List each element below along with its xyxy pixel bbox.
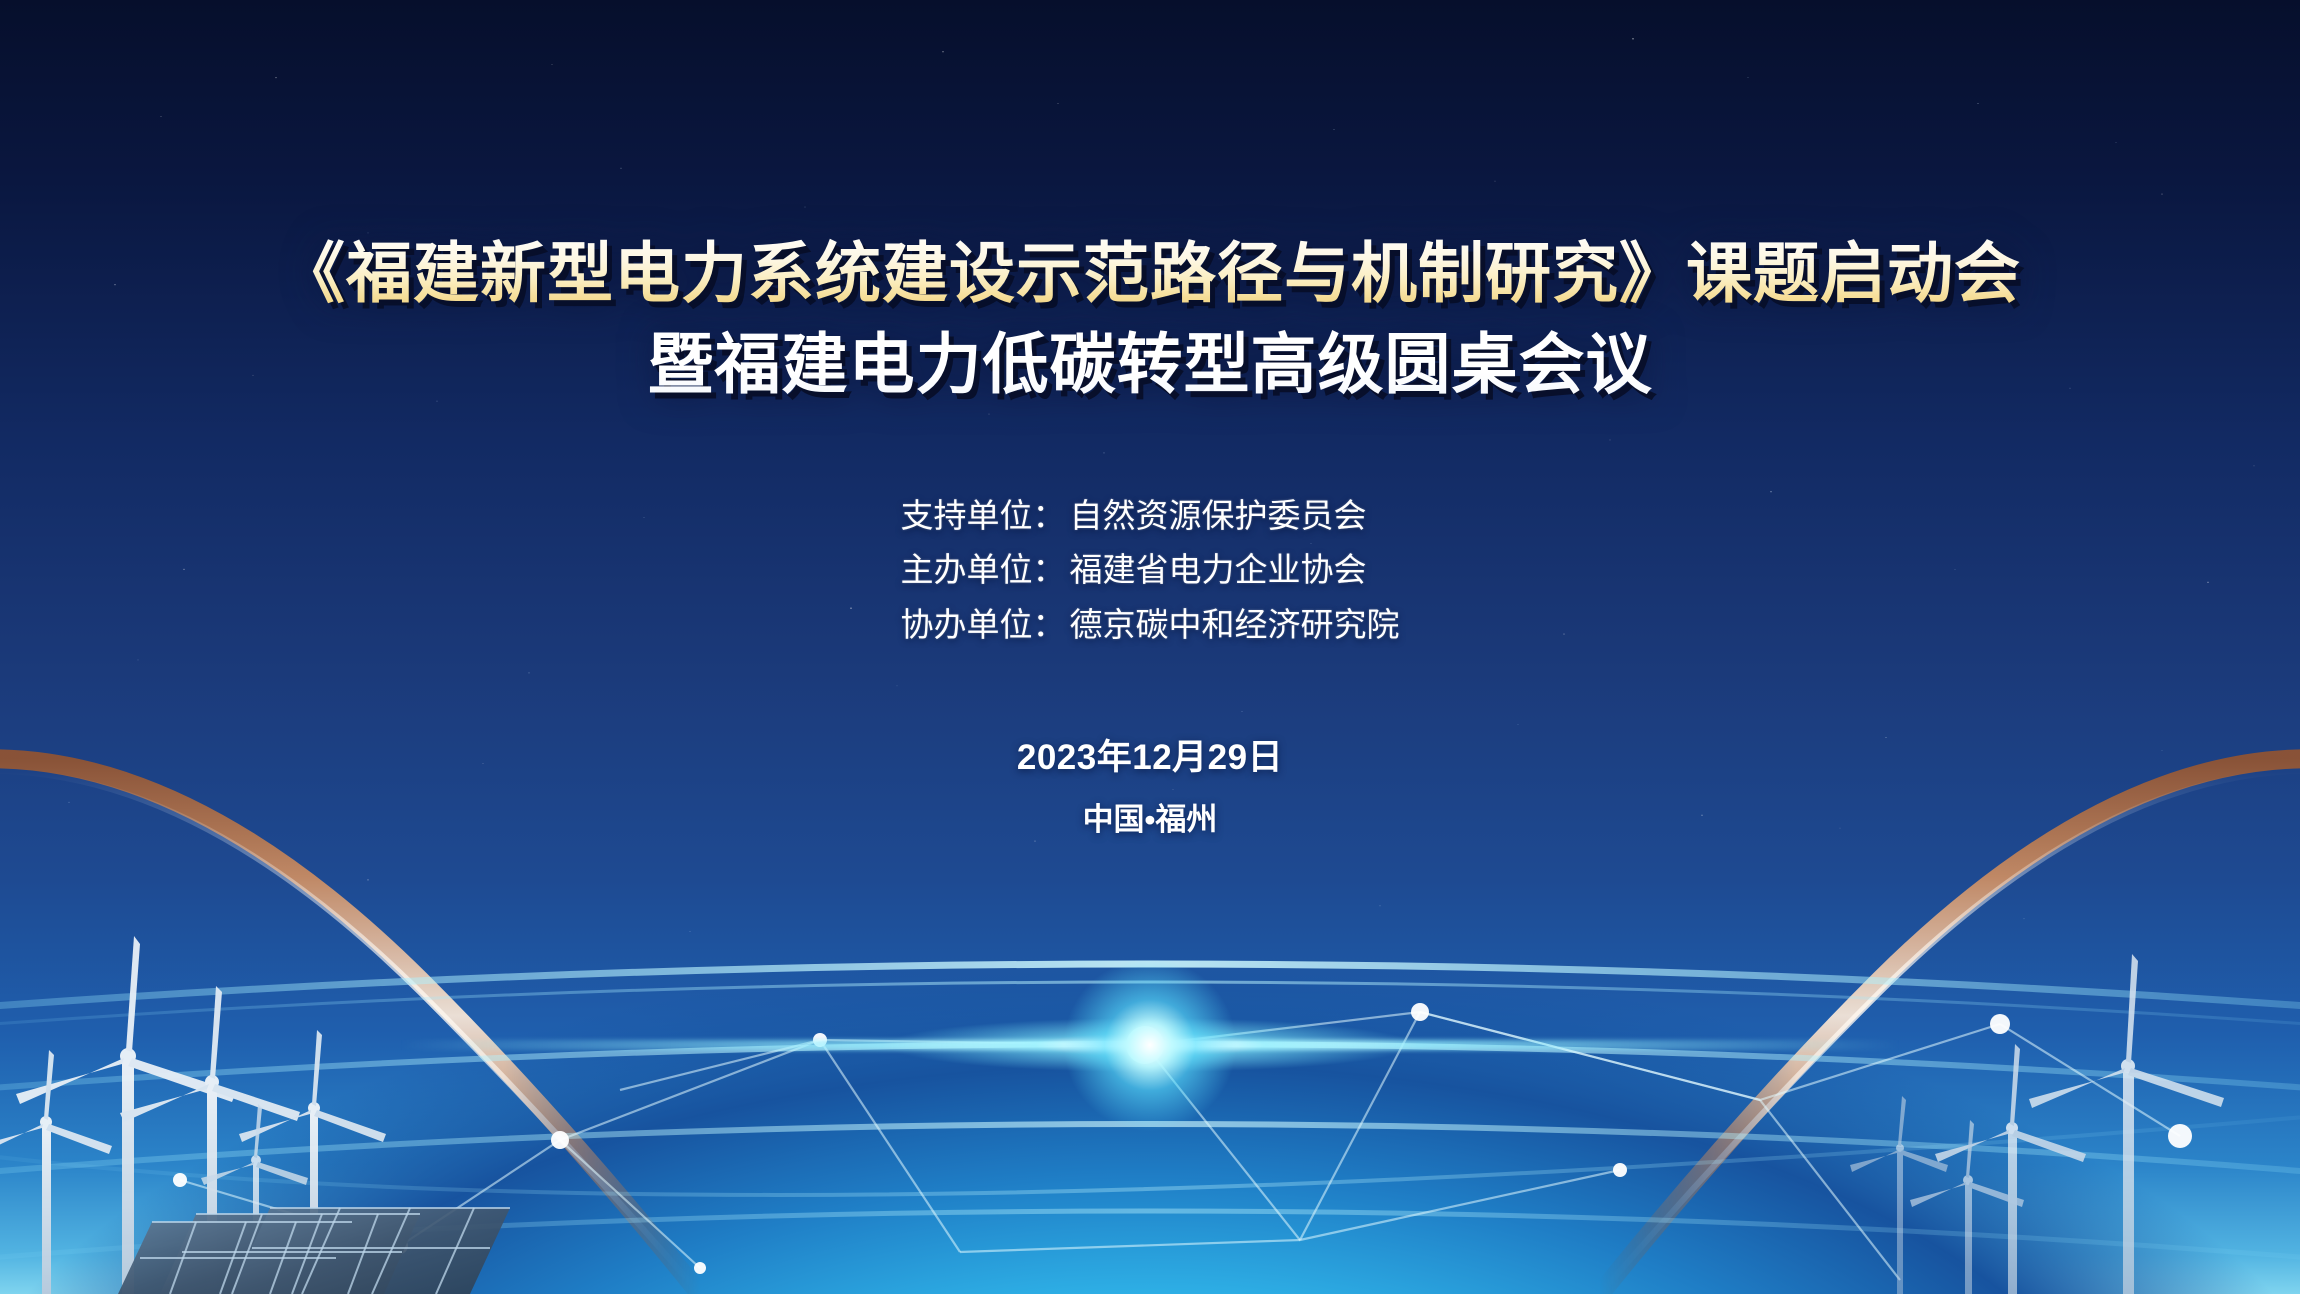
wind-turbines-right: [1850, 954, 2224, 1294]
organizer-label-host: 主办单位：: [901, 550, 1066, 590]
solar-panel-array: [118, 1208, 510, 1294]
horizon-light-ray: [400, 1040, 1900, 1050]
network-nodes: [173, 1003, 2192, 1274]
network-links: [180, 1012, 2180, 1280]
starfield-layer-faint: [0, 0, 2300, 1294]
globe-bands: [0, 964, 2300, 1262]
conference-poster: 《福建新型电力系统建设示范路径与机制研究》课题启动会 暨福建电力低碳转型高级圆桌…: [0, 0, 2300, 1294]
center-glow: [830, 895, 1470, 1195]
organizer-list: 支持单位： 自然资源保护委员会 主办单位： 福建省电力企业协会 协办单位： 德京…: [901, 496, 1400, 645]
organizer-value-coorganizer: 德京碳中和经济研究院: [1070, 605, 1400, 645]
copper-arc-right: [1600, 759, 2300, 1294]
organizer-row-support: 支持单位： 自然资源保护委员会: [901, 496, 1400, 536]
copper-arc-left: [0, 759, 700, 1294]
organizer-value-host: 福建省电力企业协会: [1070, 550, 1367, 590]
organizer-value-support: 自然资源保护委员会: [1070, 496, 1367, 536]
organizer-label-coorganizer: 协办单位：: [901, 605, 1066, 645]
copper-arc-decoration: [0, 0, 2300, 1294]
organizer-label-support: 支持单位：: [901, 496, 1066, 536]
event-location: 中国•福州: [1017, 794, 1283, 839]
event-meta: 2023年12月29日 中国•福州: [1017, 729, 1283, 839]
organizer-row-coorganizer: 协办单位： 德京碳中和经济研究院: [901, 605, 1400, 645]
organizer-row-host: 主办单位： 福建省电力企业协会: [901, 550, 1400, 590]
wind-turbines-left: [0, 936, 386, 1294]
title-line-1: 《福建新型电力系统建设示范路径与机制研究》课题启动会: [279, 228, 2021, 319]
event-date: 2023年12月29日: [1017, 729, 1283, 780]
poster-title: 《福建新型电力系统建设示范路径与机制研究》课题启动会 暨福建电力低碳转型高级圆桌…: [279, 228, 2021, 410]
title-line-2: 暨福建电力低碳转型高级圆桌会议: [279, 319, 2021, 410]
globe-network-decoration: [0, 0, 2300, 1294]
starfield-layer-bright: [0, 0, 2300, 1294]
